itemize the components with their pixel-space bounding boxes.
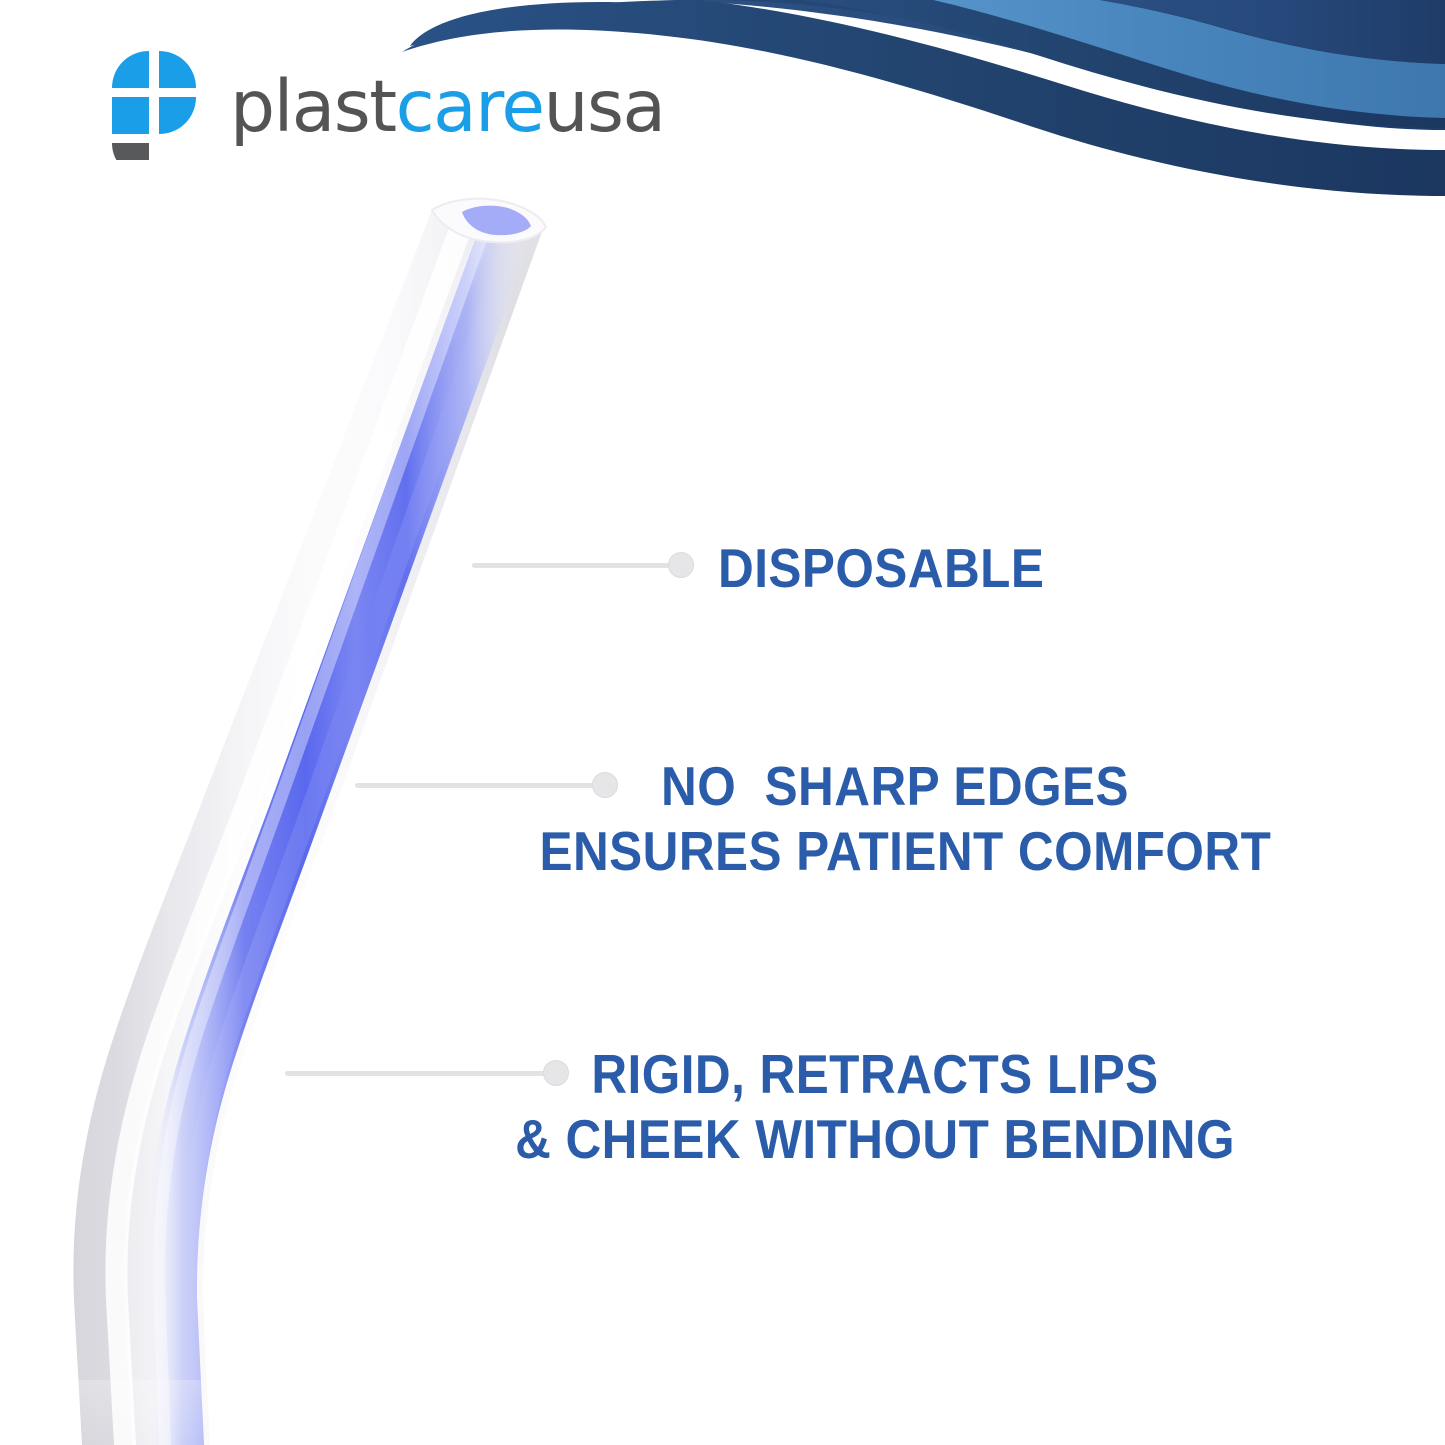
tube-body-group xyxy=(60,199,546,1445)
logo-quadrant-mid-left xyxy=(112,97,149,134)
tube-blue-core-soft xyxy=(179,230,524,1445)
callout-dot-1 xyxy=(668,552,694,578)
brand-logo: plastcareusa xyxy=(106,44,665,164)
callout-label-no-sharp-edges: NO SHARP EDGES ENSURES PATIENT COMFORT xyxy=(540,754,1251,885)
tube-left-edge-shading xyxy=(73,210,470,1445)
wordmark-usa: usa xyxy=(544,65,665,148)
callout-label-disposable: DISPOSABLE xyxy=(718,536,1044,601)
tube-right-edge-shading xyxy=(155,218,544,1445)
wordmark-care: care xyxy=(396,65,544,148)
logo-quadrant-top-left xyxy=(112,51,149,88)
wordmark-plast: plast xyxy=(230,65,396,148)
callout-connector-line-1 xyxy=(472,563,682,568)
wave-band-foreground xyxy=(690,0,1445,210)
callout-label-rigid-retracts-lips: RIGID, RETRACTS LIPS & CHEEK WITHOUT BEN… xyxy=(493,1042,1258,1173)
plastcare-shield-cross-icon xyxy=(106,48,202,160)
tube-top-tip-core xyxy=(462,206,531,235)
tube-left-highlight xyxy=(105,220,472,1445)
wave-band-top xyxy=(660,0,1445,130)
tube-top-tip xyxy=(432,199,546,243)
tube-core-specular xyxy=(153,222,492,1445)
wave-light-ribbon xyxy=(885,0,1445,118)
tube-bottom-fade xyxy=(60,1380,240,1445)
logo-quadrant-bottom-left xyxy=(112,143,149,160)
tube-outer-wall xyxy=(73,200,544,1445)
wave-band-middle xyxy=(905,0,1445,118)
wave-top-dark-band xyxy=(1022,0,1445,64)
logo-quadrant-mid-right xyxy=(159,97,196,134)
product-infographic-canvas: plastcareusa xyxy=(0,0,1445,1445)
brand-wordmark: plastcareusa xyxy=(230,71,665,142)
tube-blue-core xyxy=(143,218,530,1445)
logo-quadrant-top-right xyxy=(159,51,196,88)
